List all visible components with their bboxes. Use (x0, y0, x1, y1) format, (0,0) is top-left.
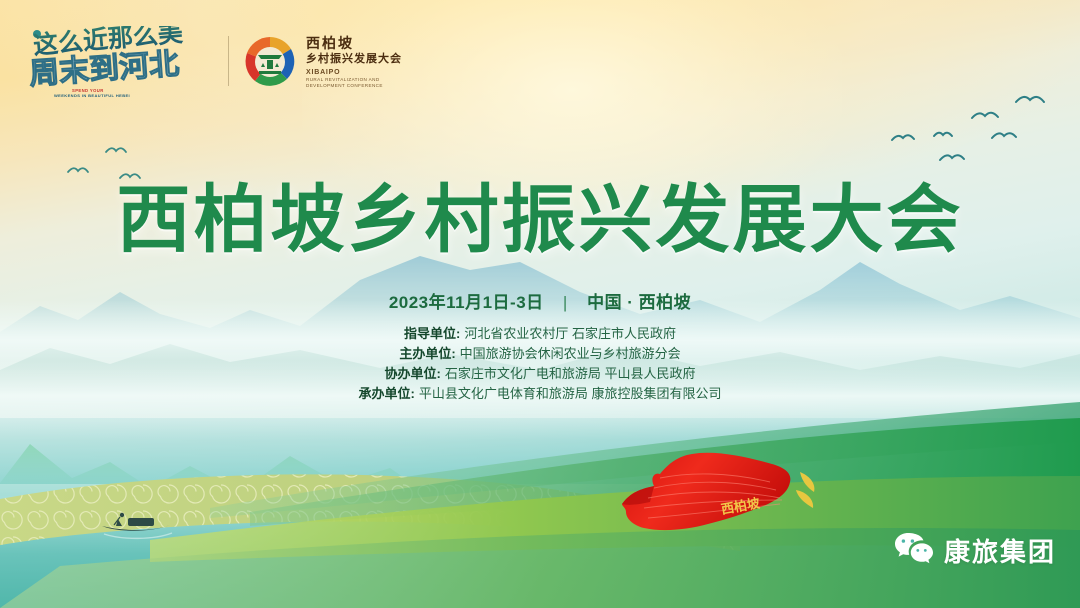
xibaipo-logo-en-sub2: DEVELOPMENT CONFERENCE (306, 83, 402, 89)
header-divider (228, 36, 229, 86)
conference-poster: 西柏坡 (0, 0, 1080, 608)
bird-icon (1016, 97, 1044, 102)
organizer-value: 河北省农业农村厅 石家庄市人民政府 (464, 326, 676, 341)
bird-icon (106, 148, 126, 152)
hebei-tourism-logo: 这么近那么美 周末到河北 SPEND YOUR WEEKENDS IN BEAU… (26, 26, 214, 98)
xibaipo-logo-en-name: XIBAIPO (306, 68, 402, 77)
xibaipo-logo-text: 西柏坡 乡村振兴发展大会 XIBAIPO RURAL REVITALIZATIO… (306, 36, 402, 89)
organizer-label: 协办单位: (385, 366, 441, 381)
xibaipo-logo-name: 西柏坡 (306, 36, 402, 51)
fishing-boat (96, 510, 186, 544)
bird-icon (934, 133, 952, 136)
organizer-row: 主办单位:中国旅游协会休闲农业与乡村旅游分会 (0, 344, 1080, 364)
green-ribbon-waves (0, 380, 1080, 608)
date-location-separator: | (563, 293, 568, 313)
organizer-label: 主办单位: (399, 346, 455, 361)
xibaipo-emblem-icon (243, 35, 297, 89)
bird-icon (992, 133, 1016, 138)
wechat-icon (894, 531, 934, 570)
event-location: 中国 · 西柏坡 (587, 293, 691, 312)
bird-flock-right (870, 88, 1070, 168)
red-flag-monument: 西柏坡 (604, 442, 854, 547)
wechat-watermark: 康旅集团 (894, 531, 1056, 570)
date-location-bar: 2023年11月1日-3日 | 中国 · 西柏坡 (0, 288, 1080, 313)
organizer-label: 承办单位: (359, 386, 415, 401)
organizer-value: 中国旅游协会休闲农业与乡村旅游分会 (460, 346, 681, 361)
organizer-row: 承办单位:平山县文化广电体育和旅游局 康旅控股集团有限公司 (0, 384, 1080, 404)
hebei-logo-en-line2: WEEKENDS IN BEAUTIFUL HEBEI (54, 93, 130, 98)
xibaipo-logo-subtitle: 乡村振兴发展大会 (306, 52, 402, 66)
organizer-list: 指导单位:河北省农业农村厅 石家庄市人民政府 主办单位:中国旅游协会休闲农业与乡… (0, 324, 1080, 404)
bird-icon (972, 113, 998, 118)
watermark-label: 康旅集团 (944, 532, 1056, 569)
organizer-row: 指导单位:河北省农业农村厅 石家庄市人民政府 (0, 324, 1080, 344)
poster-title: 西柏坡乡村振兴发展大会 (0, 160, 1080, 267)
organizer-value: 平山县文化广电体育和旅游局 康旅控股集团有限公司 (419, 386, 722, 401)
organizer-label: 指导单位: (404, 326, 460, 341)
organizer-value: 石家庄市文化广电和旅游局 平山县人民政府 (445, 366, 696, 381)
bird-icon (892, 135, 914, 140)
event-date: 2023年11月1日-3日 (389, 293, 544, 312)
xibaipo-conference-logo: 西柏坡 乡村振兴发展大会 XIBAIPO RURAL REVITALIZATIO… (243, 34, 402, 90)
organizer-row: 协办单位:石家庄市文化广电和旅游局 平山县人民政府 (0, 364, 1080, 384)
